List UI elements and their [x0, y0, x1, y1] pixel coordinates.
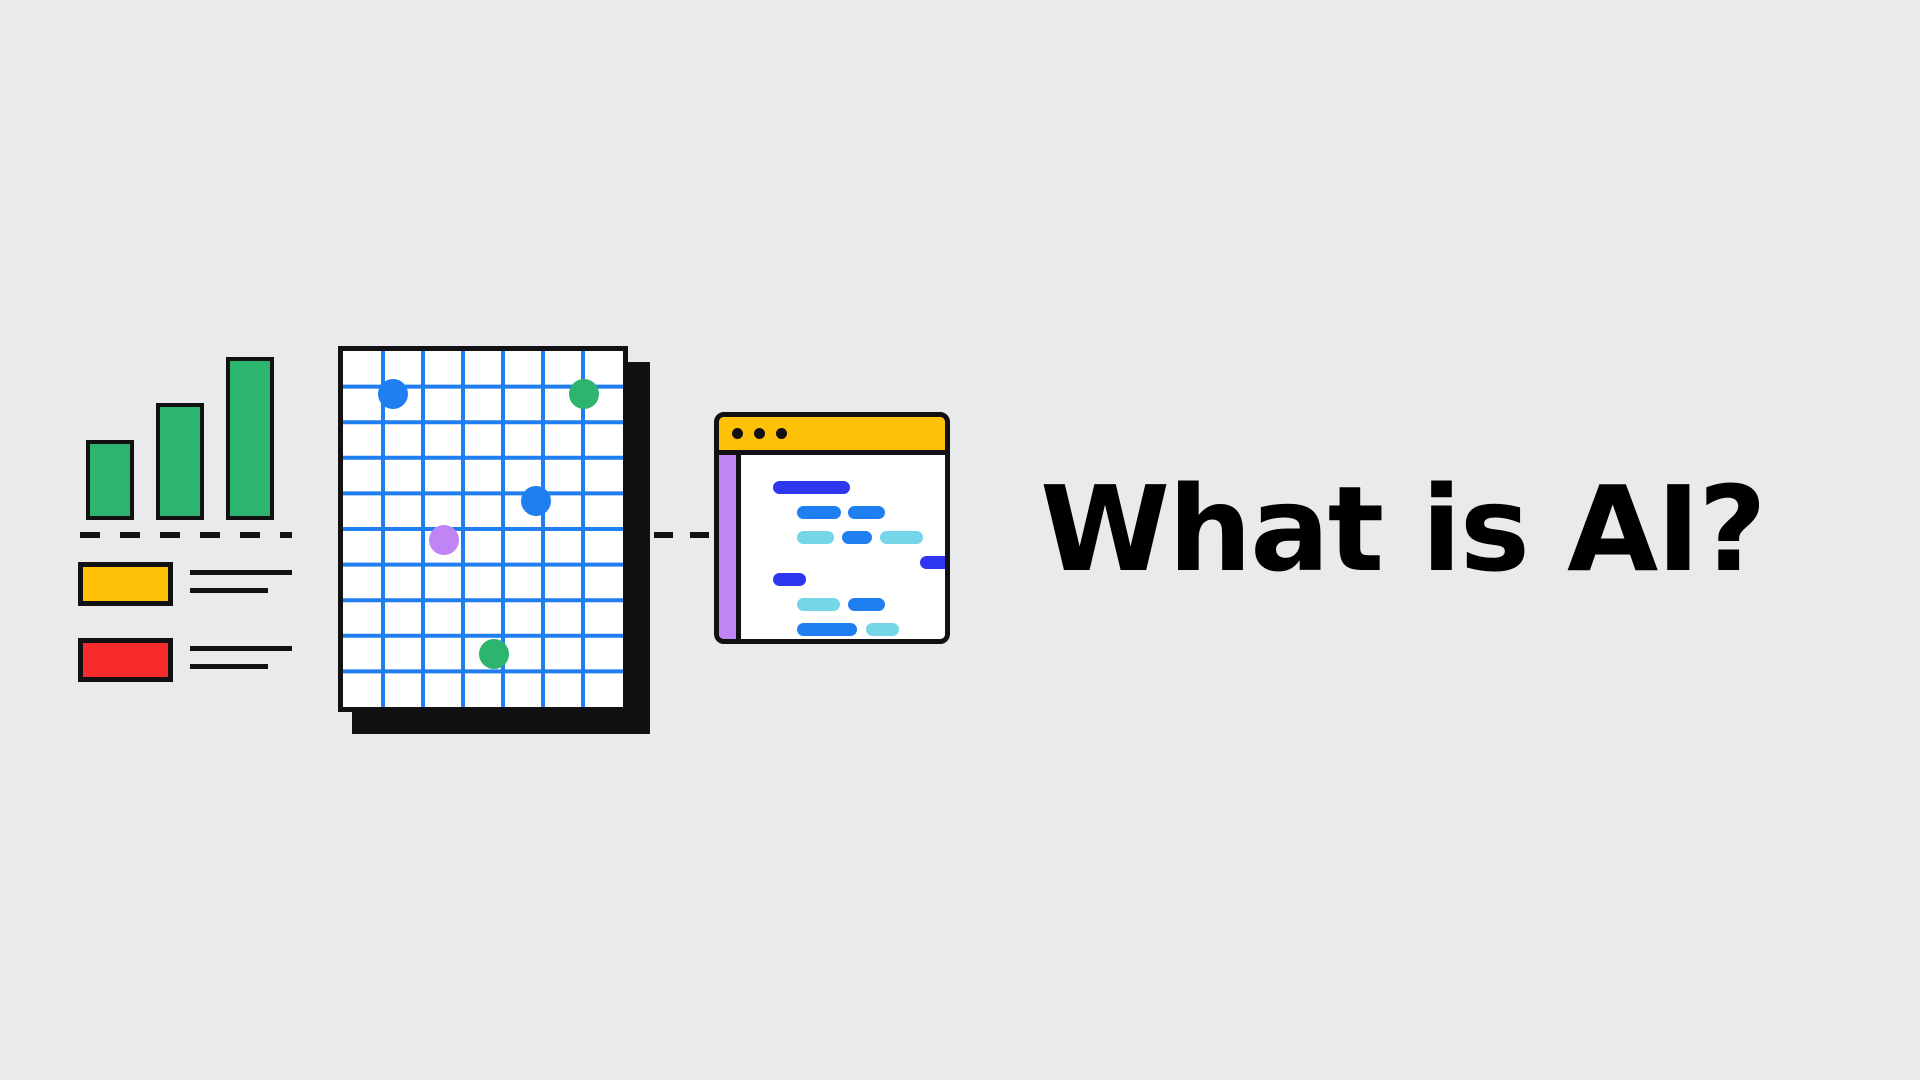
code-line-segment — [797, 506, 841, 519]
code-line-segment — [797, 598, 840, 611]
code-line-segment — [773, 481, 850, 494]
legend-row-yellow — [78, 562, 293, 612]
growth-bar-chart — [78, 340, 278, 520]
chart-bar-3 — [226, 357, 274, 520]
point-green-2 — [479, 639, 509, 669]
point-blue-2 — [521, 486, 551, 516]
legend-swatch-yellow — [78, 562, 173, 606]
code-line-segment — [797, 623, 857, 636]
legend-line-short — [190, 588, 268, 593]
code-line-segment — [848, 506, 885, 519]
window-titlebar — [719, 417, 945, 455]
legend-text-lines-yellow — [190, 570, 292, 593]
legend-line-long — [190, 570, 292, 575]
code-line-segment — [866, 623, 899, 636]
legend-row-red — [78, 638, 293, 688]
legend-line-long — [190, 646, 292, 651]
window-dot-close-icon — [732, 428, 743, 439]
illustration-canvas: What is AI? — [0, 0, 1920, 1080]
legend-line-short — [190, 664, 268, 669]
legend-text-lines-red — [190, 646, 292, 669]
editor-code-area — [746, 455, 945, 639]
window-dot-maximize-icon — [776, 428, 787, 439]
code-line-segment — [797, 531, 834, 544]
dashed-divider-under-bars — [80, 532, 292, 538]
legend-swatch-red — [78, 638, 173, 682]
code-line-segment — [842, 531, 872, 544]
editor-sidebar — [719, 455, 741, 639]
chart-bar-2 — [156, 403, 204, 520]
code-line-segment — [920, 556, 950, 569]
code-line-segment — [880, 531, 923, 544]
data-spreadsheet — [338, 346, 628, 712]
code-editor-window — [714, 412, 950, 644]
point-purple-1 — [429, 525, 459, 555]
point-blue-1 — [378, 379, 408, 409]
chart-bar-1 — [86, 440, 134, 520]
code-line-segment — [773, 573, 806, 586]
point-green-1 — [569, 379, 599, 409]
page-title: What is AI? — [1040, 470, 1765, 588]
window-dot-minimize-icon — [754, 428, 765, 439]
code-line-segment — [848, 598, 885, 611]
